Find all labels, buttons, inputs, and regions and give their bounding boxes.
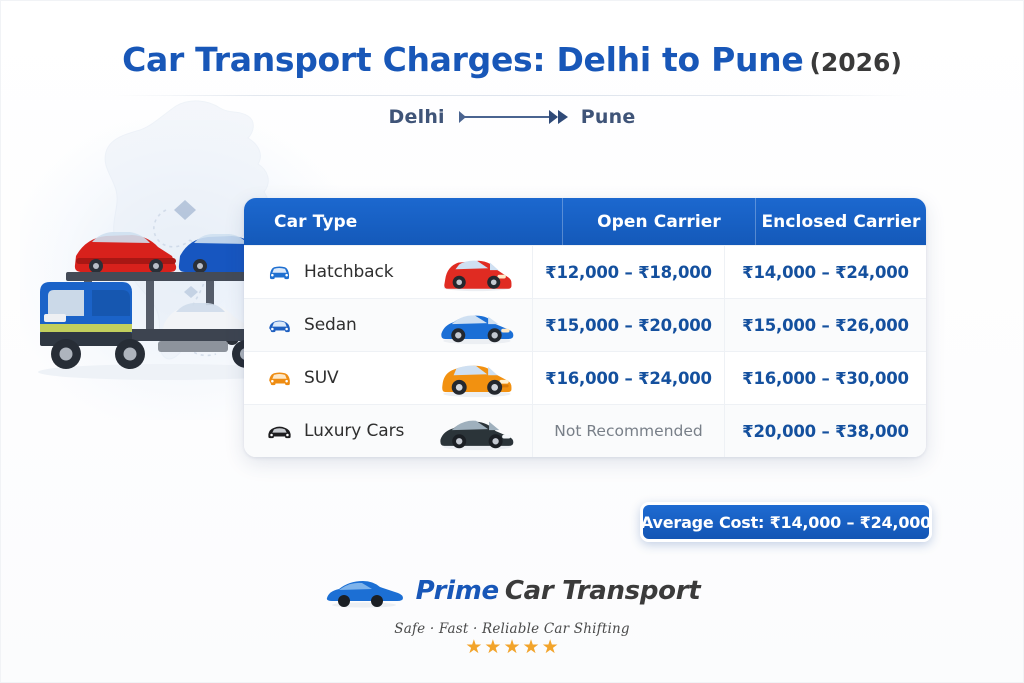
route-destination: Pune — [581, 106, 636, 128]
title-divider — [112, 95, 912, 96]
star-icon: ★ — [523, 638, 540, 657]
column-header-car-type: Car Type — [244, 198, 562, 245]
hatchback-car-photo — [434, 251, 518, 293]
star-icon: ★ — [484, 638, 501, 657]
table-row: Sedan ₹15,000 – ₹20,000 ₹15,000 – ₹26,00… — [244, 298, 926, 351]
car-type-label: SUV — [304, 368, 339, 388]
long-right-arrow-icon — [457, 108, 569, 126]
car-front-icon — [266, 368, 293, 388]
cell-car-type: Hatchback — [244, 251, 532, 293]
cell-open-carrier-price: ₹12,000 – ₹18,000 — [532, 246, 724, 298]
car-type-label: Luxury Cars — [304, 421, 404, 441]
star-icon: ★ — [503, 638, 520, 657]
star-rating: ★★★★★ — [0, 638, 1024, 657]
table-row: Luxury Cars Not Recommended ₹20,000 – ₹3… — [244, 404, 926, 457]
luxury-car-photo — [434, 410, 518, 452]
star-icon: ★ — [542, 638, 559, 657]
route-indicator: Delhi Pune — [0, 106, 1024, 128]
route-origin: Delhi — [389, 106, 445, 128]
cell-car-type: Luxury Cars — [244, 410, 532, 452]
cell-open-carrier-price: Not Recommended — [532, 405, 724, 457]
average-cost-label: Average Cost: ₹14,000 – ₹24,000 — [641, 513, 931, 532]
car-type-label: Hatchback — [304, 262, 394, 282]
cell-open-carrier-price: ₹15,000 – ₹20,000 — [532, 299, 724, 351]
page-title: Car Transport Charges: Delhi to Pune(202… — [0, 40, 1024, 79]
cell-car-type: Sedan — [244, 304, 532, 346]
table-row: SUV ₹16,000 – ₹24,000 ₹16,000 – ₹30,000 — [244, 351, 926, 404]
cell-enclosed-carrier-price: ₹20,000 – ₹38,000 — [724, 405, 926, 457]
car-type-label: Sedan — [304, 315, 357, 335]
star-icon: ★ — [465, 638, 482, 657]
blue-car-logo-icon — [324, 572, 404, 610]
cell-enclosed-carrier-price: ₹14,000 – ₹24,000 — [724, 246, 926, 298]
brand-name: PrimeCar Transport — [416, 576, 701, 606]
table-row: Hatchback ₹12,000 – ₹18,000 ₹14,000 – ₹2… — [244, 245, 926, 298]
car-front-icon — [266, 315, 293, 335]
cell-enclosed-carrier-price: ₹15,000 – ₹26,000 — [724, 299, 926, 351]
brand-name-secondary: Car Transport — [505, 576, 701, 606]
table-header-row: Car Type Open Carrier Enclosed Carrier — [244, 198, 926, 245]
cell-enclosed-carrier-price: ₹16,000 – ₹30,000 — [724, 352, 926, 404]
average-cost-badge: Average Cost: ₹14,000 – ₹24,000 — [640, 502, 932, 542]
page-title-main: Car Transport Charges: Delhi to Pune — [122, 40, 803, 79]
column-header-open-carrier: Open Carrier — [562, 198, 755, 245]
sedan-car-photo — [434, 304, 518, 346]
car-front-icon — [266, 262, 293, 282]
brand-tagline: Safe · Fast · Reliable Car Shifting — [0, 621, 1024, 637]
cell-car-type: SUV — [244, 357, 532, 399]
cell-open-carrier-price: ₹16,000 – ₹24,000 — [532, 352, 724, 404]
price-table: Car Type Open Carrier Enclosed Carrier H… — [244, 198, 926, 457]
brand-name-primary: Prime — [416, 576, 499, 606]
brand-logo-block: PrimeCar Transport — [0, 572, 1024, 610]
infographic-canvas: Car Transport Charges: Delhi to Pune(202… — [0, 0, 1024, 683]
column-header-enclosed-carrier: Enclosed Carrier — [755, 198, 926, 245]
suv-car-photo — [434, 357, 518, 399]
page-title-year: (2026) — [809, 48, 901, 77]
car-front-icon — [266, 421, 293, 441]
